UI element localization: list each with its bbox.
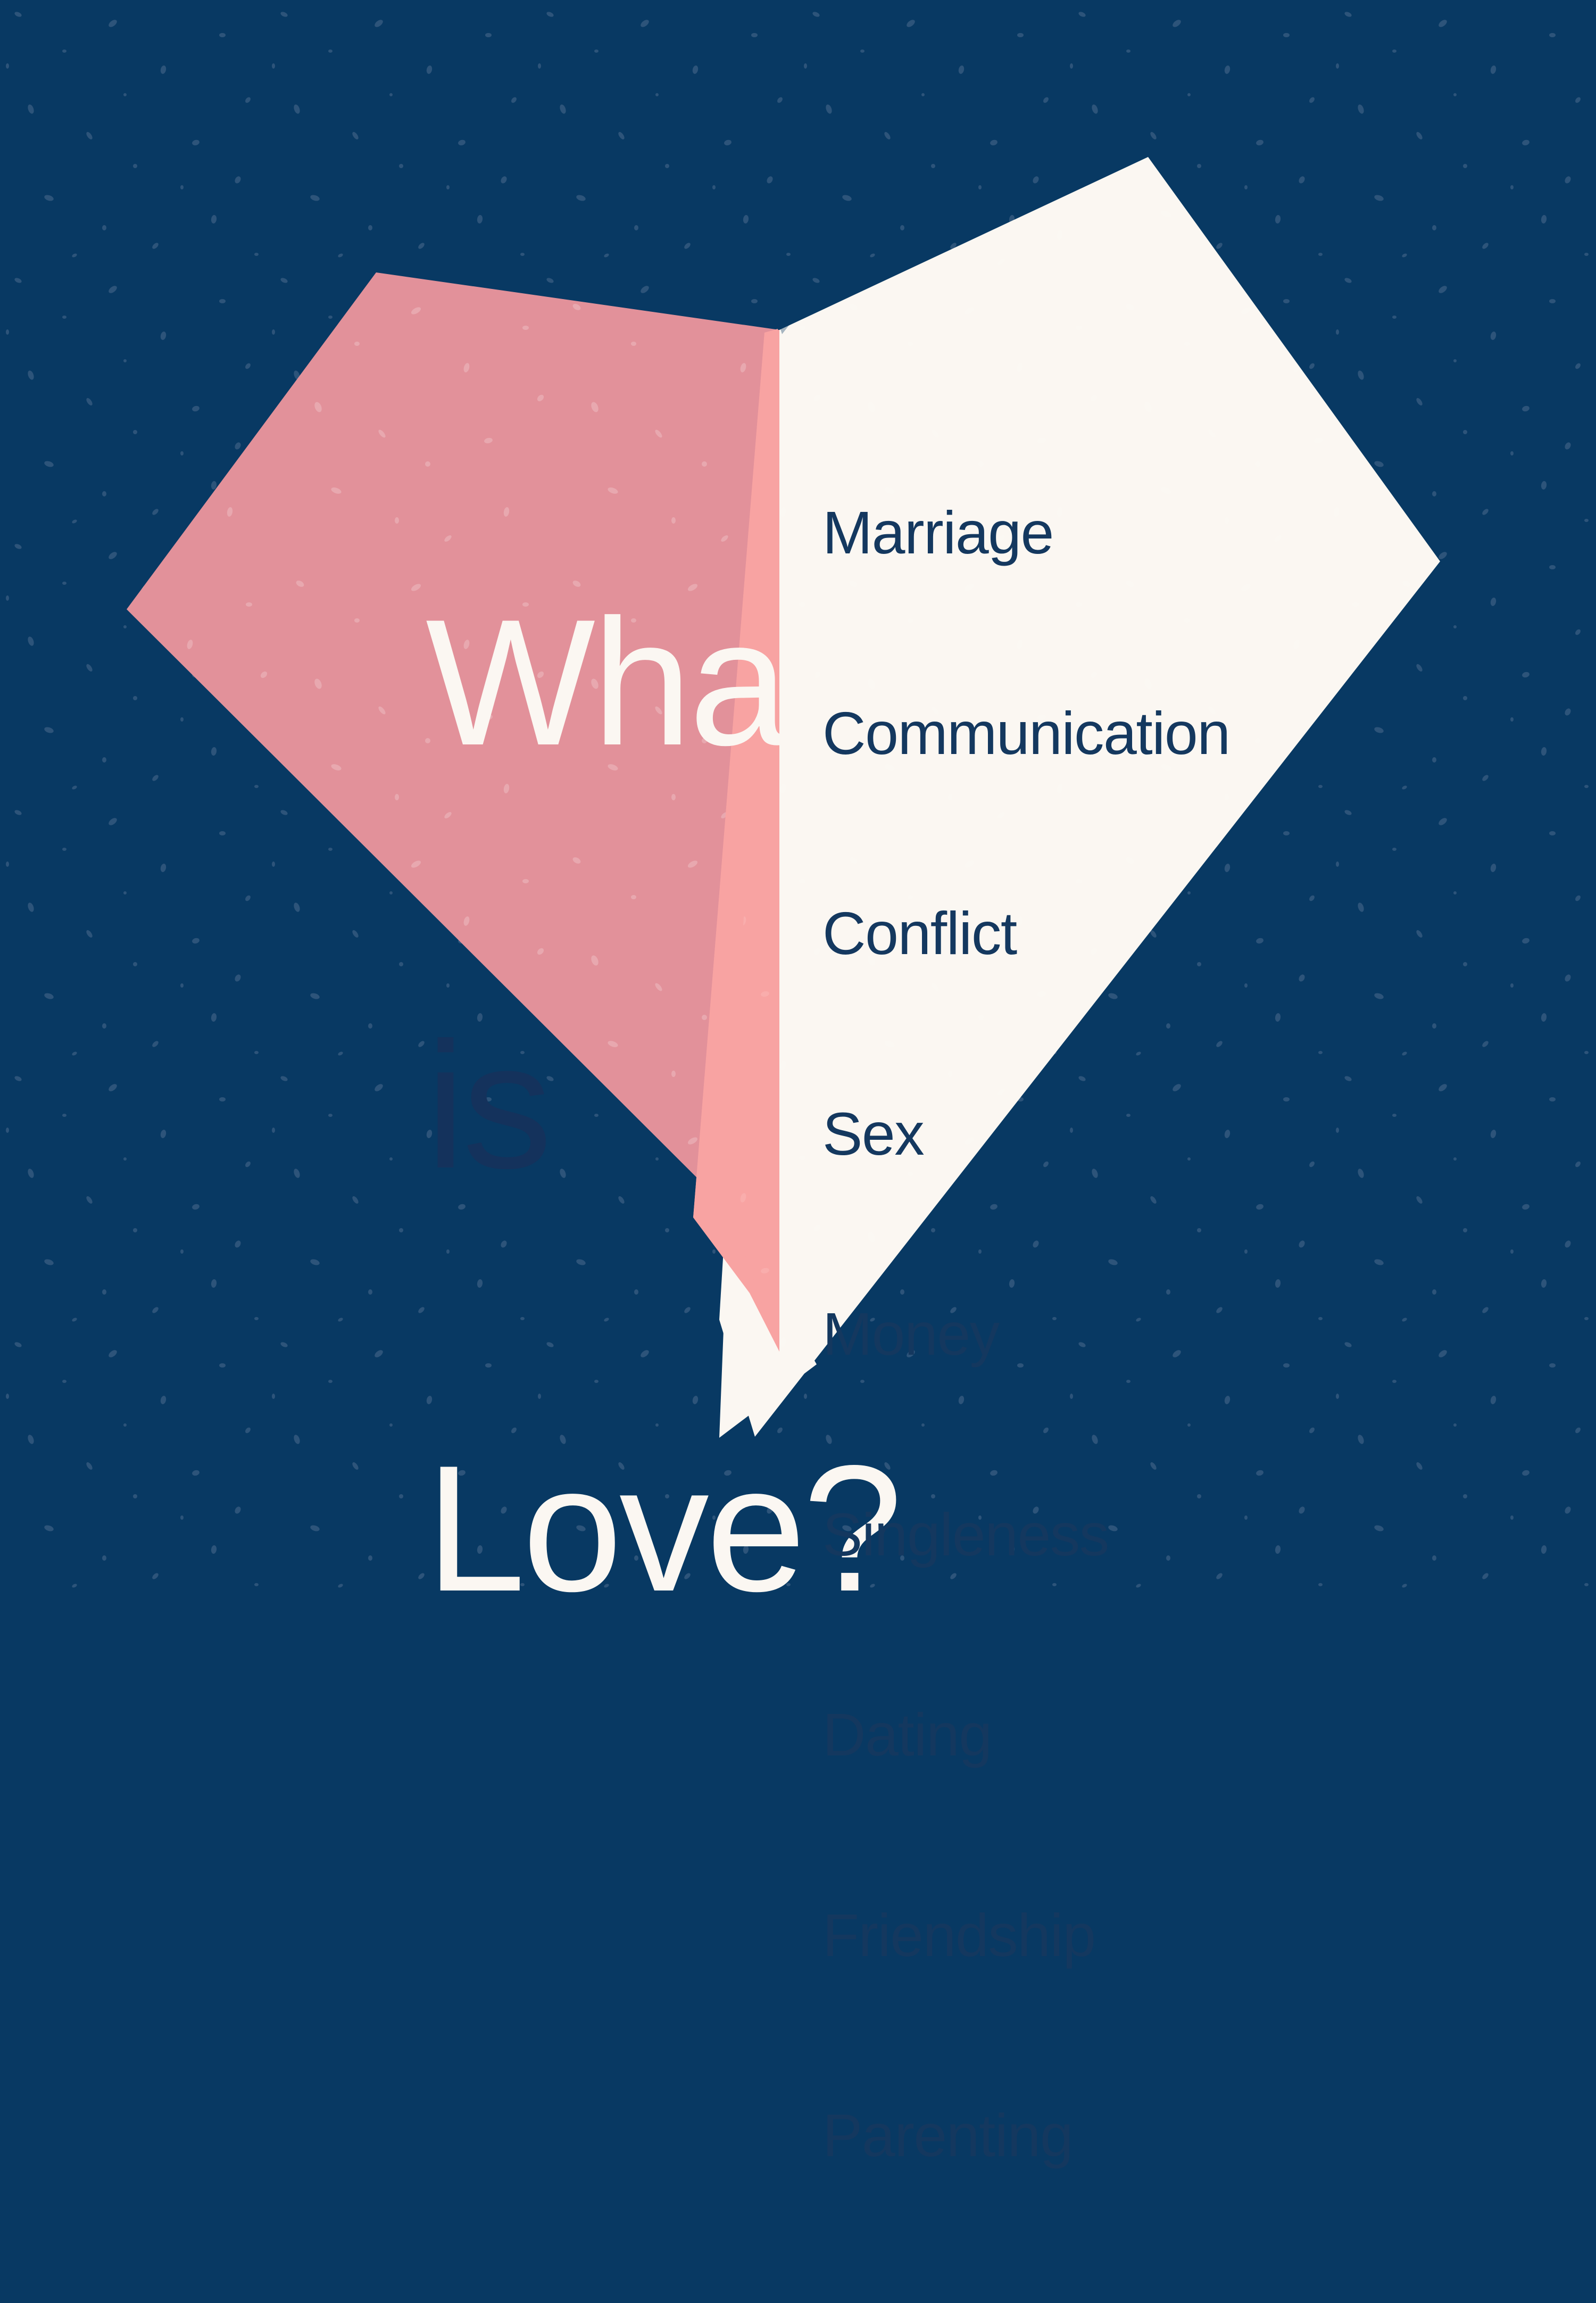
headline-line-what: What (426, 612, 830, 753)
headline-line-is: is (426, 1035, 830, 1176)
list-item: Parenting (822, 2102, 1301, 2169)
page-title: What is Love? (426, 330, 830, 1881)
list-item: Money (822, 1301, 1301, 1368)
headline-line-love: Love? (426, 1458, 830, 1599)
topic-list: Marriage Communication Conflict Sex Mone… (822, 366, 1301, 2303)
list-item: Friendship (822, 1902, 1301, 1969)
list-item: Communication (822, 700, 1301, 767)
list-item: Sex (822, 1101, 1301, 1168)
list-item: Marriage (822, 500, 1301, 567)
list-item: Dating (822, 1702, 1301, 1769)
list-item: Conflict (822, 900, 1301, 967)
poster-canvas: What is Love? Marriage Communication Con… (0, 0, 1596, 1596)
list-item: Singleness (822, 1502, 1301, 1569)
